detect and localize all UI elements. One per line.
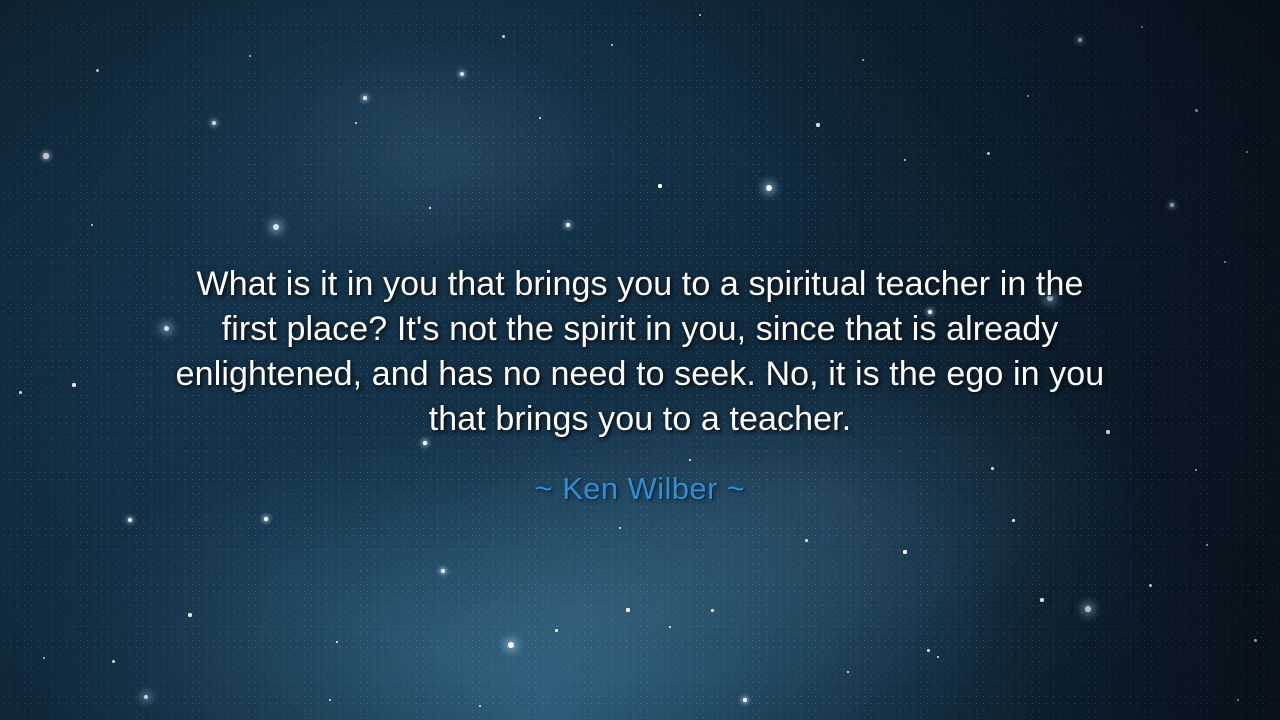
quote-line-2: first place? It's not the spirit in you,… bbox=[222, 310, 1059, 348]
quote-content: What is it in you that brings you to a s… bbox=[0, 262, 1280, 508]
quote-line-3: enlightened, and has no need to seek. No… bbox=[176, 355, 1105, 393]
quote-line-4: that brings you to a teacher. bbox=[429, 400, 852, 438]
quote-image-canvas: What is it in you that brings you to a s… bbox=[0, 0, 1280, 720]
quote-line-1: What is it in you that brings you to a s… bbox=[197, 265, 1084, 303]
quote-attribution: ~ Ken Wilber ~ bbox=[60, 442, 1220, 508]
quote-text: What is it in you that brings you to a s… bbox=[125, 262, 1155, 442]
